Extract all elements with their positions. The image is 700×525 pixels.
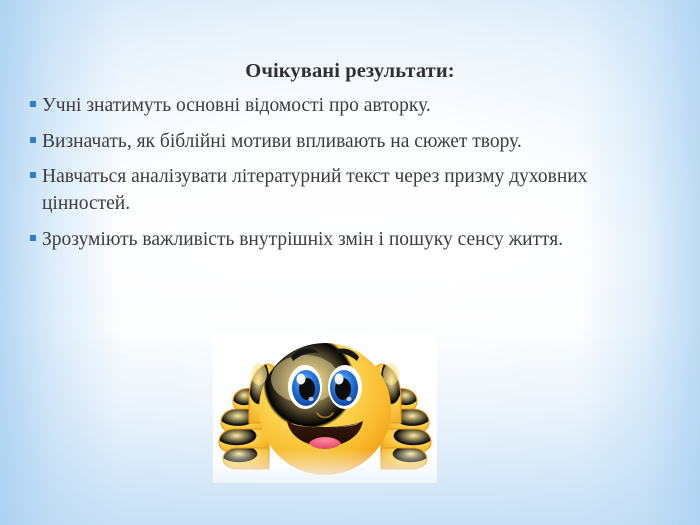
page-title: Очікувані результати:	[0, 60, 700, 83]
bullet-list: Учні знатимуть основні відомості про авт…	[28, 92, 642, 261]
list-item-label: Учні знатимуть основні відомості про авт…	[42, 92, 642, 119]
list-item: Навчаться аналізувати літературний текст…	[28, 163, 642, 217]
smiley-thumbs-up-icon	[213, 333, 437, 483]
list-item: Визначать, як біблійні мотиви впливають …	[28, 128, 642, 155]
list-item: Зрозуміють важливість внутрішніх змін і …	[28, 226, 642, 253]
square-bullet-icon	[30, 172, 36, 178]
square-bullet-icon	[30, 101, 36, 107]
left-eye	[288, 365, 322, 409]
square-bullet-icon	[30, 235, 36, 241]
list-item-label: Навчаться аналізувати літературний текст…	[42, 163, 642, 217]
smiley-face	[259, 343, 391, 475]
slide-canvas: Очікувані результати: Учні знатимуть осн…	[0, 0, 700, 525]
right-eye	[328, 365, 362, 409]
square-bullet-icon	[30, 137, 36, 143]
list-item-label: Зрозуміють важливість внутрішніх змін і …	[42, 226, 642, 253]
slide-content: Очікувані результати: Учні знатимуть осн…	[0, 0, 700, 525]
list-item: Учні знатимуть основні відомості про авт…	[28, 92, 642, 119]
list-item-label: Визначать, як біблійні мотиви впливають …	[42, 128, 642, 155]
smiley-thumbs-up-image	[213, 333, 437, 483]
